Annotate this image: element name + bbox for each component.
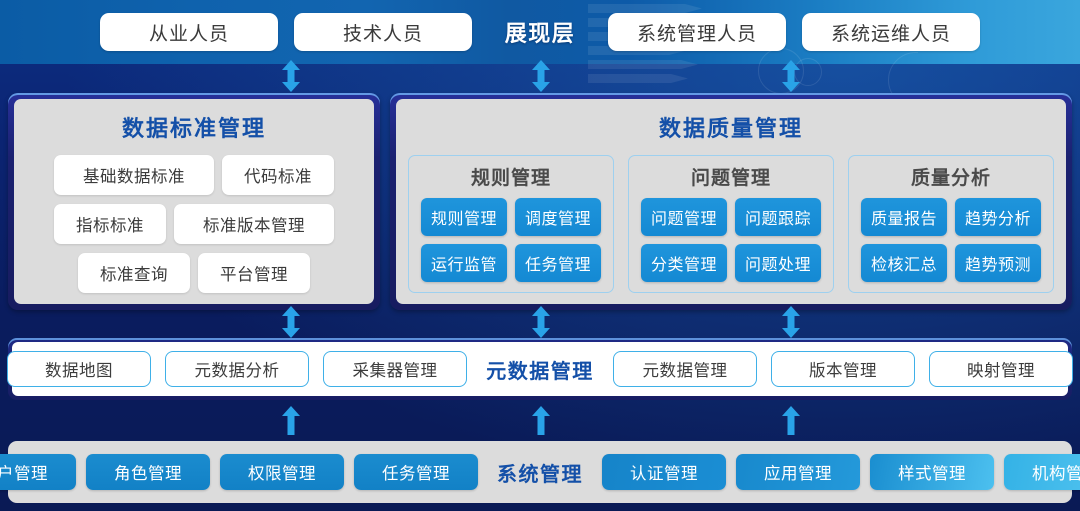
data-standard-chip-grid: 基础数据标准 代码标准 指标标准 标准版本管理 标准查询 平台管理 bbox=[26, 155, 362, 293]
quality-column-quality-analysis: 质量分析 质量报告 趋势分析 检核汇总 趋势预测 bbox=[848, 155, 1054, 293]
quality-button[interactable]: 运行监管 bbox=[421, 244, 507, 282]
system-button-label: 应用管理 bbox=[764, 460, 832, 484]
data-standard-panel: 数据标准管理 基础数据标准 代码标准 指标标准 标准版本管理 标准查询 平台管理 bbox=[8, 93, 380, 310]
metadata-pill[interactable]: 数据地图 bbox=[7, 351, 151, 387]
metadata-pill[interactable]: 采集器管理 bbox=[323, 351, 467, 387]
system-button[interactable]: 角色管理 bbox=[86, 454, 210, 490]
role-chip-xi-tong-yun-wei-ren-yuan[interactable]: 系统运维人员 bbox=[802, 13, 980, 51]
quality-column-title: 规则管理 bbox=[417, 163, 605, 190]
double-arrow-icon bbox=[778, 306, 804, 338]
quality-button[interactable]: 趋势分析 bbox=[955, 198, 1041, 236]
quality-button[interactable]: 检核汇总 bbox=[861, 244, 947, 282]
presentation-layer-row: 从业人员 技术人员 展现层 系统管理人员 系统运维人员 bbox=[0, 0, 1080, 64]
metadata-pill-label: 元数据分析 bbox=[195, 357, 280, 381]
quality-button[interactable]: 规则管理 bbox=[421, 198, 507, 236]
connector-row-middle bbox=[0, 306, 1080, 340]
quality-button[interactable]: 问题管理 bbox=[641, 198, 727, 236]
double-arrow-icon bbox=[278, 306, 304, 338]
metadata-pill[interactable]: 元数据管理 bbox=[613, 351, 757, 387]
system-button[interactable]: 机构管理 bbox=[1004, 454, 1080, 490]
data-standard-title: 数据标准管理 bbox=[26, 111, 362, 143]
quality-button[interactable]: 问题跟踪 bbox=[735, 198, 821, 236]
std-chip[interactable]: 标准版本管理 bbox=[174, 204, 334, 244]
quality-button[interactable]: 任务管理 bbox=[515, 244, 601, 282]
system-button-label: 用户管理 bbox=[0, 460, 48, 484]
metadata-pill-label: 映射管理 bbox=[967, 357, 1035, 381]
double-arrow-icon bbox=[528, 60, 554, 92]
quality-button-label: 检核汇总 bbox=[871, 251, 937, 275]
quality-button-label: 质量报告 bbox=[871, 205, 937, 229]
metadata-layer-title: 元数据管理 bbox=[481, 355, 599, 384]
role-chip-label: 技术人员 bbox=[343, 19, 423, 46]
std-chip[interactable]: 平台管理 bbox=[198, 253, 310, 293]
quality-button[interactable]: 质量报告 bbox=[861, 198, 947, 236]
architecture-diagram: 从业人员 技术人员 展现层 系统管理人员 系统运维人员 数据标准管理 bbox=[0, 0, 1080, 511]
up-arrow-icon bbox=[528, 406, 554, 438]
metadata-pill-label: 版本管理 bbox=[809, 357, 877, 381]
quality-column-title: 问题管理 bbox=[637, 163, 825, 190]
quality-button[interactable]: 问题处理 bbox=[735, 244, 821, 282]
quality-button-label: 任务管理 bbox=[525, 251, 591, 275]
std-chip-label: 标准版本管理 bbox=[203, 212, 305, 236]
data-quality-columns: 规则管理 规则管理 调度管理 运行监管 任务管理 问题管理 问题管理 问题跟踪 bbox=[408, 155, 1054, 293]
system-button-label: 任务管理 bbox=[382, 460, 450, 484]
role-chip-label: 从业人员 bbox=[149, 19, 229, 46]
quality-button-label: 问题跟踪 bbox=[745, 205, 811, 229]
role-chip-xi-tong-guan-li-ren-yuan[interactable]: 系统管理人员 bbox=[608, 13, 786, 51]
metadata-pill-label: 采集器管理 bbox=[353, 357, 438, 381]
std-chip-label: 指标标准 bbox=[76, 212, 144, 236]
system-button[interactable]: 认证管理 bbox=[602, 454, 726, 490]
std-chip-label: 基础数据标准 bbox=[83, 163, 185, 187]
role-chip-ji-shu-ren-yuan[interactable]: 技术人员 bbox=[294, 13, 472, 51]
connector-row-top bbox=[0, 60, 1080, 94]
role-chip-label: 系统运维人员 bbox=[831, 19, 951, 46]
system-button-label: 权限管理 bbox=[248, 460, 316, 484]
quality-button[interactable]: 分类管理 bbox=[641, 244, 727, 282]
metadata-pill-label: 元数据管理 bbox=[643, 357, 728, 381]
double-arrow-icon bbox=[278, 60, 304, 92]
presentation-layer-title: 展现层 bbox=[488, 16, 592, 48]
quality-column-title: 质量分析 bbox=[857, 163, 1045, 190]
quality-button-label: 分类管理 bbox=[651, 251, 717, 275]
quality-button[interactable]: 调度管理 bbox=[515, 198, 601, 236]
double-arrow-icon bbox=[528, 306, 554, 338]
std-chip[interactable]: 指标标准 bbox=[54, 204, 166, 244]
system-button[interactable]: 应用管理 bbox=[736, 454, 860, 490]
system-button[interactable]: 用户管理 bbox=[0, 454, 76, 490]
system-button-label: 认证管理 bbox=[630, 460, 698, 484]
data-quality-panel: 数据质量管理 规则管理 规则管理 调度管理 运行监管 任务管理 问题管理 bbox=[390, 93, 1072, 310]
metadata-pill-label: 数据地图 bbox=[45, 357, 113, 381]
role-chip-label: 系统管理人员 bbox=[637, 19, 757, 46]
system-management-title: 系统管理 bbox=[488, 458, 592, 487]
metadata-pill[interactable]: 版本管理 bbox=[771, 351, 915, 387]
std-chip[interactable]: 标准查询 bbox=[78, 253, 190, 293]
metadata-pill[interactable]: 元数据分析 bbox=[165, 351, 309, 387]
system-button[interactable]: 样式管理 bbox=[870, 454, 994, 490]
system-button-label: 机构管理 bbox=[1032, 460, 1080, 484]
std-chip-label: 平台管理 bbox=[220, 261, 288, 285]
std-chip[interactable]: 代码标准 bbox=[222, 155, 334, 195]
system-button[interactable]: 任务管理 bbox=[354, 454, 478, 490]
up-arrow-icon bbox=[278, 406, 304, 438]
middle-layer: 数据标准管理 基础数据标准 代码标准 指标标准 标准版本管理 标准查询 平台管理… bbox=[8, 93, 1072, 310]
system-button-label: 角色管理 bbox=[114, 460, 182, 484]
system-button[interactable]: 权限管理 bbox=[220, 454, 344, 490]
quality-column-issue-management: 问题管理 问题管理 问题跟踪 分类管理 问题处理 bbox=[628, 155, 834, 293]
metadata-layer: 数据地图 元数据分析 采集器管理 元数据管理 元数据管理 版本管理 映射管理 bbox=[8, 338, 1072, 400]
quality-column-rule-management: 规则管理 规则管理 调度管理 运行监管 任务管理 bbox=[408, 155, 614, 293]
std-chip-label: 标准查询 bbox=[100, 261, 168, 285]
system-management-layer: 用户管理 角色管理 权限管理 任务管理 系统管理 认证管理 应用管理 样式管理 … bbox=[8, 441, 1072, 503]
quality-button-label: 趋势预测 bbox=[965, 251, 1031, 275]
quality-button-label: 调度管理 bbox=[525, 205, 591, 229]
quality-button-label: 运行监管 bbox=[431, 251, 497, 275]
quality-button[interactable]: 趋势预测 bbox=[955, 244, 1041, 282]
quality-button-label: 问题处理 bbox=[745, 251, 811, 275]
role-chip-from-ye-ren-yuan[interactable]: 从业人员 bbox=[100, 13, 278, 51]
quality-button-label: 趋势分析 bbox=[965, 205, 1031, 229]
std-chip[interactable]: 基础数据标准 bbox=[54, 155, 214, 195]
std-chip-label: 代码标准 bbox=[244, 163, 312, 187]
connector-row-bottom bbox=[0, 406, 1080, 438]
metadata-pill[interactable]: 映射管理 bbox=[929, 351, 1073, 387]
system-button-label: 样式管理 bbox=[898, 460, 966, 484]
double-arrow-icon bbox=[778, 60, 804, 92]
quality-button-label: 问题管理 bbox=[651, 205, 717, 229]
data-quality-title: 数据质量管理 bbox=[408, 111, 1054, 143]
up-arrow-icon bbox=[778, 406, 804, 438]
quality-button-label: 规则管理 bbox=[431, 205, 497, 229]
